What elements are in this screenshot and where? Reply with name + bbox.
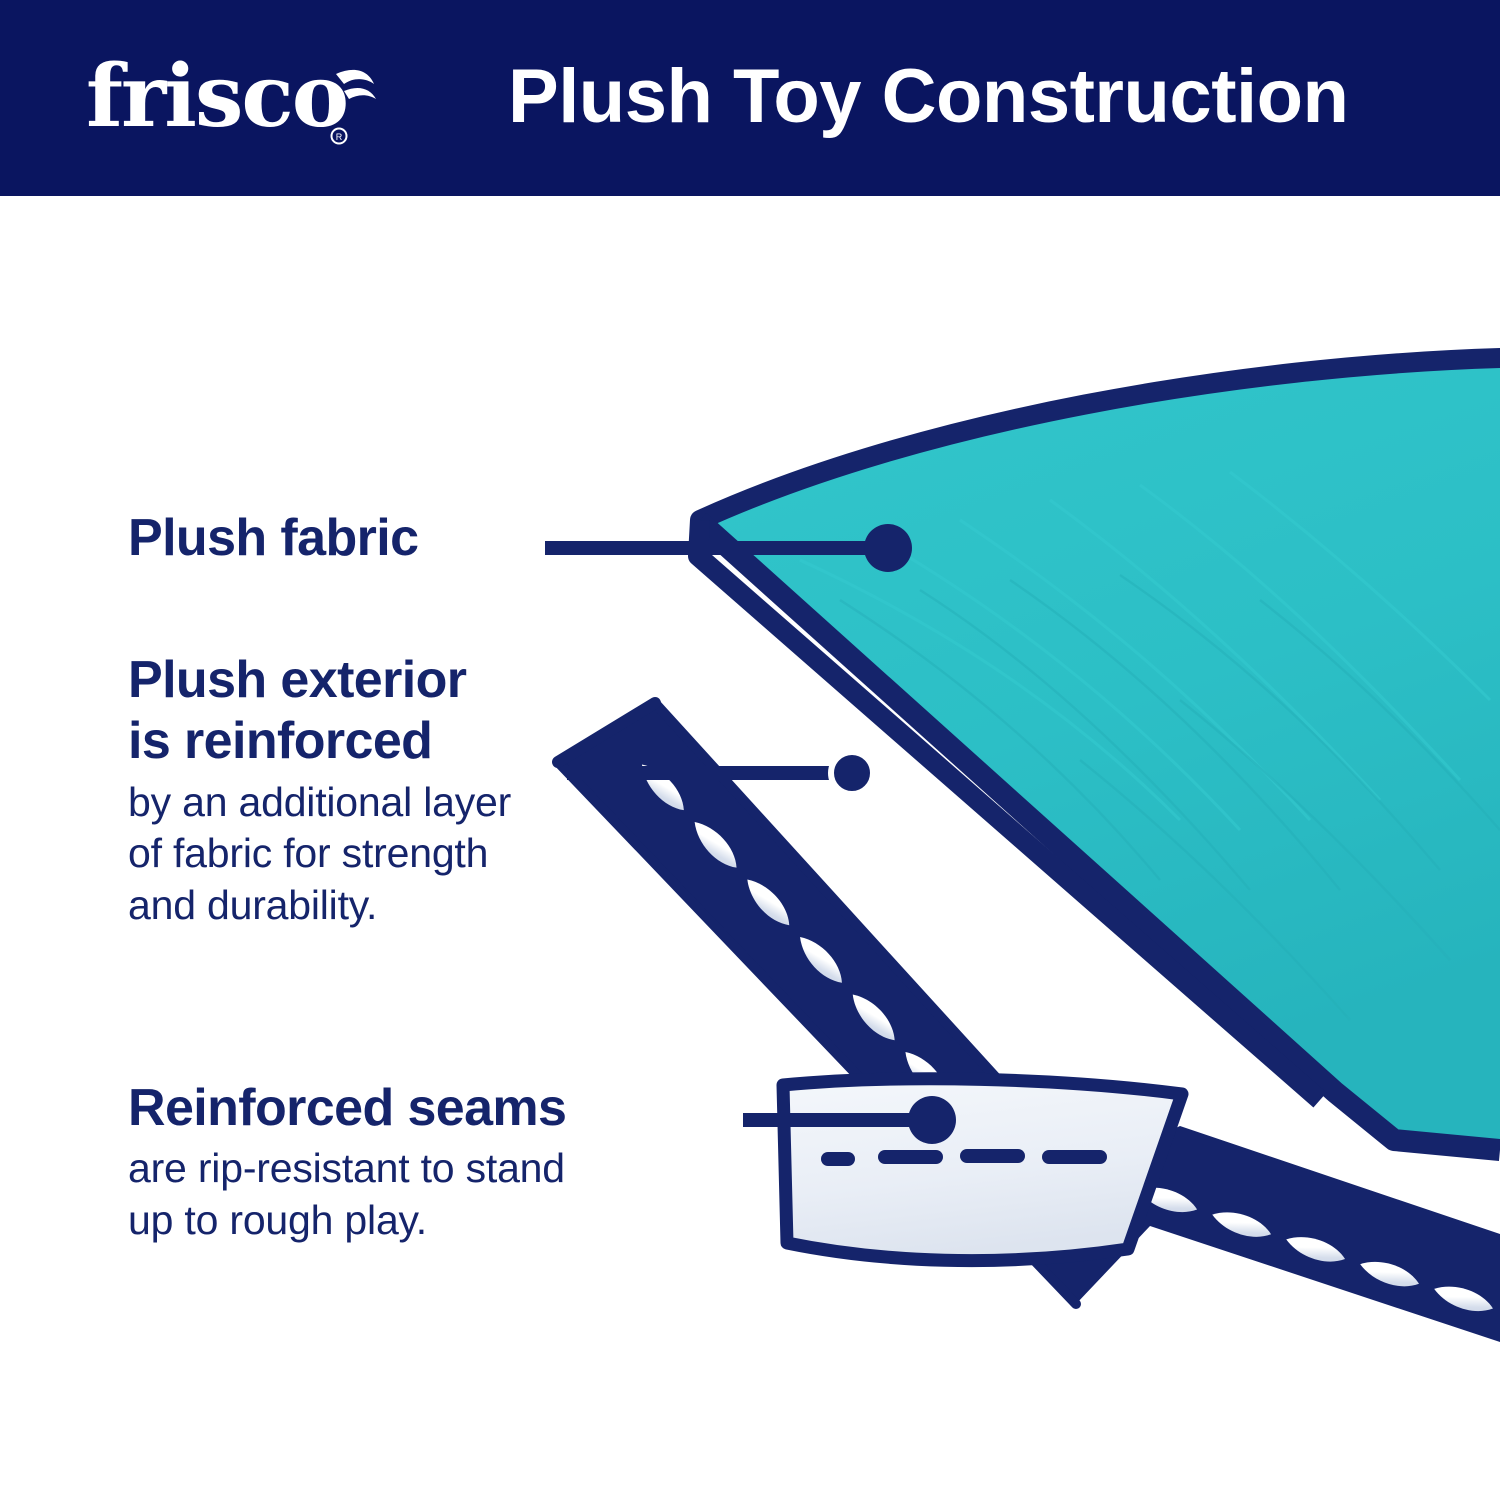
svg-text:R: R <box>336 132 343 142</box>
leader-dot-filled <box>864 524 912 572</box>
frisco-logo: frisco R <box>86 44 386 154</box>
leader-dot-filled <box>908 1096 956 1144</box>
callout-headline: Plush fabric <box>128 508 418 569</box>
svg-text:frisco: frisco <box>86 46 347 147</box>
leader-dot-hollow <box>831 752 873 794</box>
callout-headline: Plush exterior is reinforced <box>128 650 511 773</box>
reinforced-seam-flap <box>783 1079 1182 1261</box>
callout-headline: Reinforced seams <box>128 1078 566 1139</box>
callout-plush-fabric: Plush fabric <box>128 508 418 573</box>
callout-plush-exterior: Plush exterior is reinforced by an addit… <box>128 650 511 932</box>
page-title: Plush Toy Construction <box>508 42 1348 152</box>
header-bar: frisco R Plush Toy Construction <box>0 0 1500 196</box>
callout-body: are rip-resistant to stand up to rough p… <box>128 1143 566 1246</box>
callout-body: by an additional layer of fabric for str… <box>128 777 511 932</box>
infographic-page: frisco R Plush Toy Construction <box>0 0 1500 1500</box>
callout-reinforced-seams: Reinforced seams are rip-resistant to st… <box>128 1078 566 1247</box>
